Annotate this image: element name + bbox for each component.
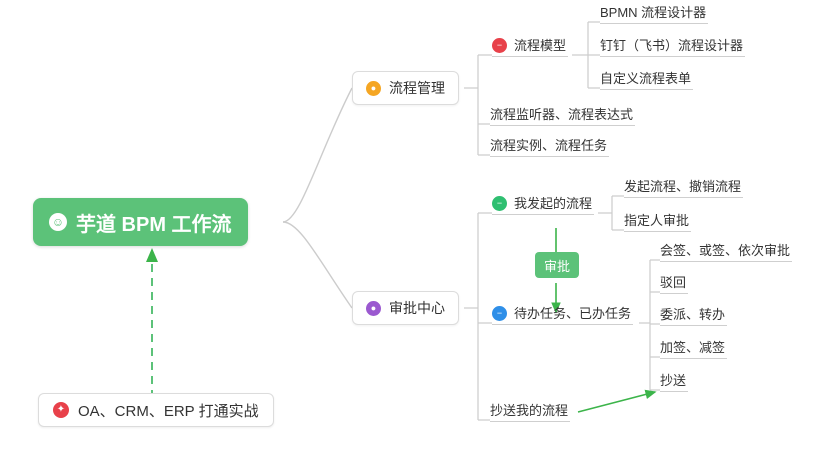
node-label: 流程实例、流程任务 [490, 135, 607, 154]
node-add-remove-sign[interactable]: 加签、减签 [660, 335, 727, 359]
node-process-model[interactable]: − 流程模型 [492, 33, 568, 57]
root-label: 芋道 BPM 工作流 [76, 208, 232, 237]
node-label: 抄送我的流程 [490, 400, 568, 419]
minus-circle-icon: − [492, 38, 507, 53]
node-label: 待办任务、已办任务 [514, 303, 631, 322]
node-cc-to-me[interactable]: 抄送我的流程 [490, 398, 570, 422]
tag-label: 审批 [544, 256, 570, 275]
node-assign-approver[interactable]: 指定人审批 [624, 208, 691, 232]
node-cc[interactable]: 抄送 [660, 368, 688, 392]
node-reject[interactable]: 驳回 [660, 270, 688, 294]
star-icon: ✦ [53, 402, 69, 418]
mindmap-canvas: ☺ 芋道 BPM 工作流 ● 流程管理 − 流程模型 BPMN 流程设计器 钉钉… [0, 0, 814, 453]
node-label: 抄送 [660, 370, 686, 389]
minus-circle-icon: − [492, 196, 507, 211]
tag-approval[interactable]: 审批 [535, 252, 579, 278]
node-label: BPMN 流程设计器 [600, 2, 706, 21]
node-label: 加签、减签 [660, 337, 725, 356]
node-label: 我发起的流程 [514, 193, 592, 212]
node-bpmn-designer[interactable]: BPMN 流程设计器 [600, 0, 708, 24]
location-pin-icon: ● [366, 81, 381, 96]
node-label: 流程模型 [514, 35, 566, 54]
node-dingtalk-designer[interactable]: 钉钉（飞书）流程设计器 [600, 33, 745, 57]
node-label: 自定义流程表单 [600, 68, 691, 87]
callout-label: OA、CRM、ERP 打通实战 [78, 400, 259, 421]
node-label: 钉钉（飞书）流程设计器 [600, 35, 743, 54]
branch-label: 审批中心 [389, 298, 445, 318]
node-instance-task[interactable]: 流程实例、流程任务 [490, 133, 609, 157]
node-label: 指定人审批 [624, 210, 689, 229]
node-todo-done[interactable]: − 待办任务、已办任务 [492, 301, 633, 325]
node-countersign[interactable]: 会签、或签、依次审批 [660, 238, 792, 262]
node-my-started[interactable]: − 我发起的流程 [492, 191, 594, 215]
branch-approval-center[interactable]: ● 审批中心 [352, 291, 459, 325]
node-label: 委派、转办 [660, 304, 725, 323]
node-custom-form[interactable]: 自定义流程表单 [600, 66, 693, 90]
node-label: 发起流程、撤销流程 [624, 176, 741, 195]
branch-label: 流程管理 [389, 78, 445, 98]
node-start-cancel[interactable]: 发起流程、撤销流程 [624, 174, 743, 198]
message-circle-icon: ● [366, 301, 381, 316]
node-listener-expression[interactable]: 流程监听器、流程表达式 [490, 102, 635, 126]
minus-circle-icon: − [492, 306, 507, 321]
node-label: 会签、或签、依次审批 [660, 240, 790, 259]
root-node[interactable]: ☺ 芋道 BPM 工作流 [33, 198, 248, 246]
callout-oa-crm-erp[interactable]: ✦ OA、CRM、ERP 打通实战 [38, 393, 274, 427]
branch-process-management[interactable]: ● 流程管理 [352, 71, 459, 105]
node-label: 驳回 [660, 272, 686, 291]
node-label: 流程监听器、流程表达式 [490, 104, 633, 123]
node-delegate-transfer[interactable]: 委派、转办 [660, 302, 727, 326]
thumbs-up-icon: ☺ [49, 213, 67, 231]
